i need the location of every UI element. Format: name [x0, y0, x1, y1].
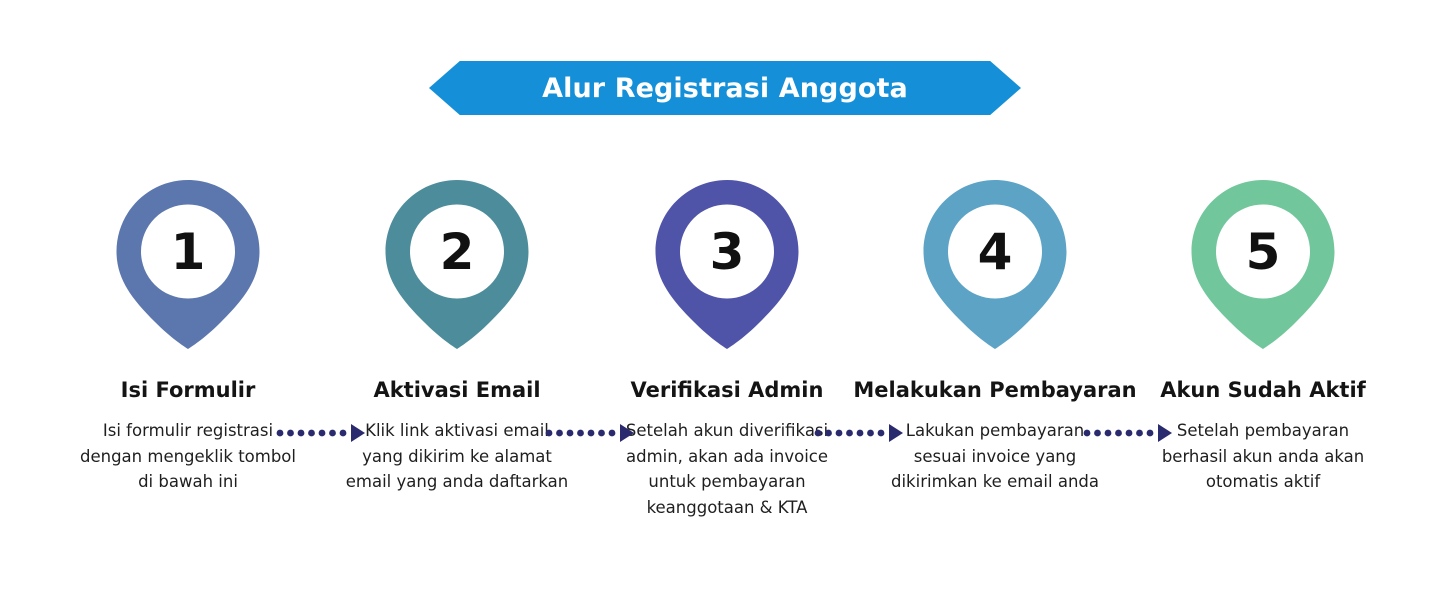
step-pin-1[interactable]: 1: [103, 180, 273, 350]
step-description: Setelah akun diverifikasi admin, akan ad…: [584, 418, 870, 520]
step-heading: Verifikasi Admin: [584, 379, 870, 402]
step-4[interactable]: 4Melakukan PembayaranLakukan pembayaran …: [852, 180, 1138, 495]
step-5[interactable]: 5Akun Sudah AktifSetelah pembayaran berh…: [1120, 180, 1406, 495]
map-pin-icon: [642, 180, 812, 350]
step-pin-2[interactable]: 2: [372, 180, 542, 350]
page-title: Alur Registrasi Anggota: [542, 73, 908, 104]
step-1[interactable]: 1Isi FormulirIsi formulir registrasi den…: [45, 180, 331, 495]
map-pin-icon: [103, 180, 273, 350]
step-pin-3[interactable]: 3: [642, 180, 812, 350]
step-3[interactable]: 3Verifikasi AdminSetelah akun diverifika…: [584, 180, 870, 520]
steps-row: 1Isi FormulirIsi formulir registrasi den…: [0, 180, 1439, 580]
step-description: Lakukan pembayaran sesuai invoice yang d…: [852, 418, 1138, 495]
map-pin-icon: [1178, 180, 1348, 350]
step-description: Setelah pembayaran berhasil akun anda ak…: [1120, 418, 1406, 495]
step-2[interactable]: 2Aktivasi EmailKlik link aktivasi email …: [314, 180, 600, 495]
step-pin-5[interactable]: 5: [1178, 180, 1348, 350]
step-heading: Melakukan Pembayaran: [852, 379, 1138, 402]
step-description: Klik link aktivasi email yang dikirim ke…: [314, 418, 600, 495]
step-heading: Aktivasi Email: [314, 379, 600, 402]
step-pin-4[interactable]: 4: [910, 180, 1080, 350]
step-heading: Isi Formulir: [45, 379, 331, 402]
step-heading: Akun Sudah Aktif: [1120, 379, 1406, 402]
title-banner: Alur Registrasi Anggota: [429, 61, 1021, 115]
map-pin-icon: [910, 180, 1080, 350]
step-description: Isi formulir registrasi dengan mengeklik…: [45, 418, 331, 495]
map-pin-icon: [372, 180, 542, 350]
